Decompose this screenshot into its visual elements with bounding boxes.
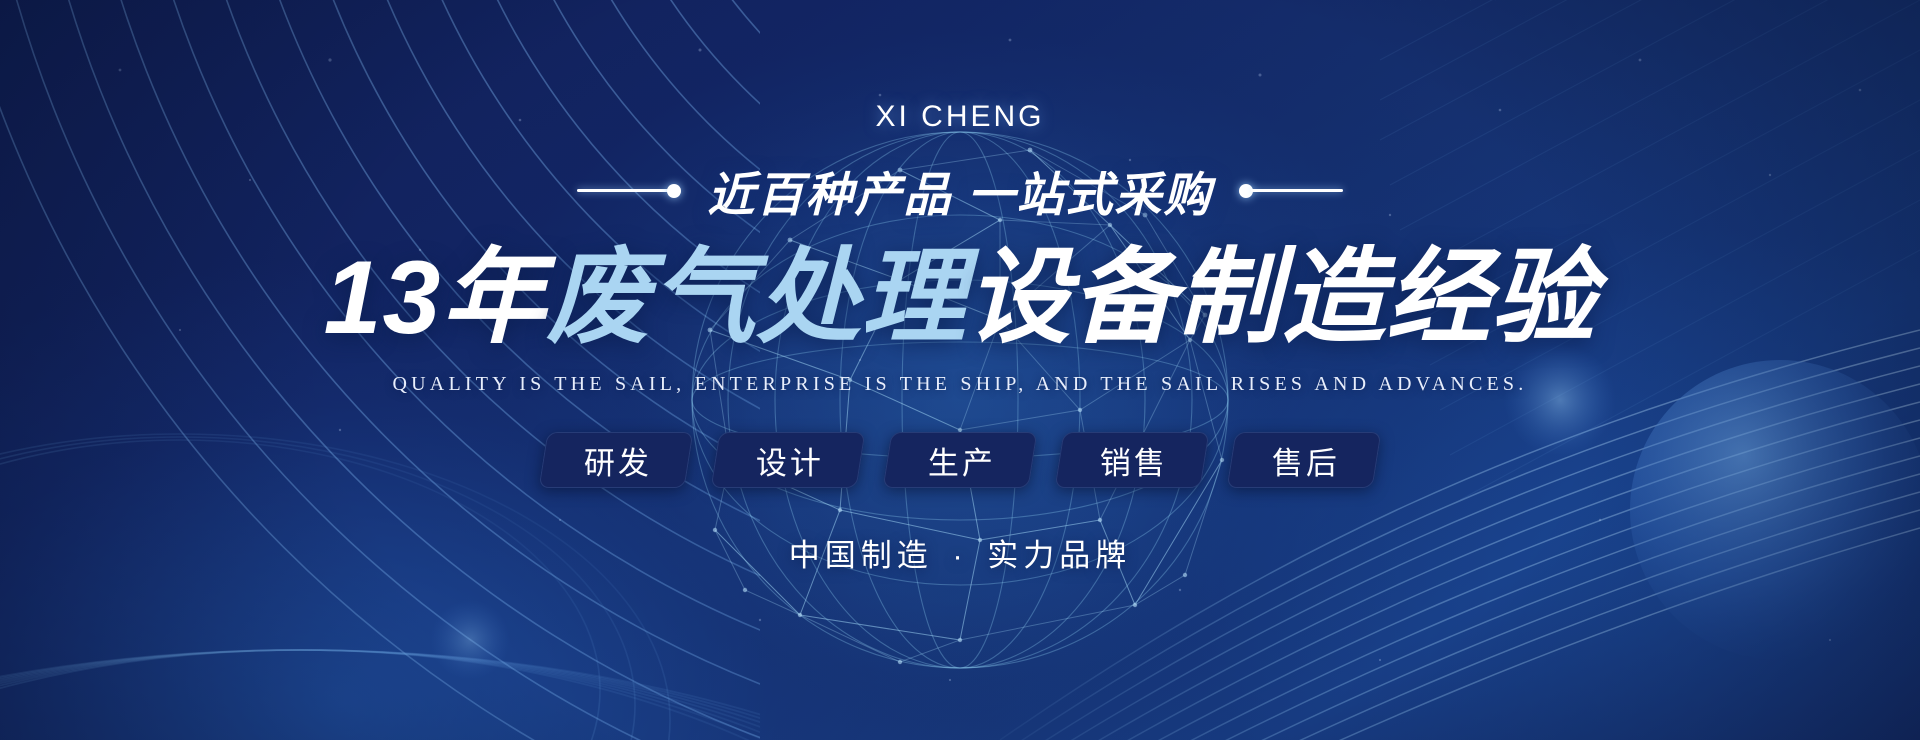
footer-slogan-right: 实力品牌 [987, 538, 1131, 573]
pill-design-label: 设计 [753, 437, 824, 482]
pill-after-sales-label: 售后 [1269, 437, 1340, 482]
pill-rnd-label: 研发 [581, 437, 652, 482]
pill-production[interactable]: 生产 [883, 432, 1038, 488]
footer-slogan-separator: · [946, 538, 973, 573]
pill-design[interactable]: 设计 [711, 432, 866, 488]
pill-sales[interactable]: 销售 [1055, 432, 1210, 488]
pill-rnd[interactable]: 研发 [539, 432, 694, 488]
pill-after-sales[interactable]: 售后 [1227, 432, 1382, 488]
line-dot-right-icon [1239, 184, 1343, 198]
english-tagline: QUALITY IS THE SAIL, ENTERPRISE IS THE S… [393, 373, 1528, 396]
hero-banner: XI CHENG 近百种产品 一站式采购 13年废气处理设备制造经验 QUALI… [0, 0, 1920, 740]
headline-part-1: 13年 [324, 240, 547, 356]
pill-production-label: 生产 [925, 437, 996, 482]
headline-highlight: 废气处理 [546, 240, 966, 356]
footer-slogan: 中国制造 · 实力品牌 [789, 530, 1132, 575]
banner-content: XI CHENG 近百种产品 一站式采购 13年废气处理设备制造经验 QUALI… [0, 0, 1920, 740]
brand-latin-name: XI CHENG [875, 100, 1044, 134]
line-dot-left-icon [577, 184, 681, 198]
subline-text: 近百种产品 一站式采购 [707, 156, 1212, 225]
headline-part-2: 设备制造经验 [966, 240, 1596, 356]
footer-slogan-left: 中国制造 [789, 538, 933, 573]
page-title: 13年废气处理设备制造经验 [324, 239, 1597, 359]
subline-row: 近百种产品 一站式采购 [577, 156, 1342, 225]
service-pill-list: 研发 设计 生产 销售 售后 [543, 432, 1377, 488]
pill-sales-label: 销售 [1097, 437, 1168, 482]
